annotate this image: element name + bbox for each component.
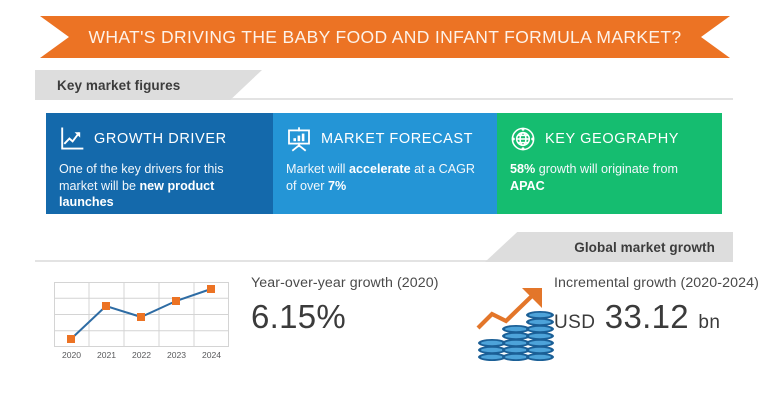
- card-key-geography-highlight-1: 58%: [510, 162, 535, 176]
- yoy-growth-stat: Year-over-year growth (2020) 6.15%: [251, 274, 461, 336]
- incremental-growth-amount: 33.12: [605, 298, 689, 335]
- card-market-forecast-text-1: Market will: [286, 162, 349, 176]
- global-market-growth-tab-label: Global market growth: [574, 240, 715, 255]
- card-growth-driver-title: GROWTH DRIVER: [94, 131, 227, 147]
- card-market-forecast-highlight-1: accelerate: [349, 162, 411, 176]
- card-growth-driver: GROWTH DRIVER One of the key drivers for…: [46, 113, 273, 214]
- card-key-geography-title: KEY GEOGRAPHY: [545, 131, 679, 147]
- key-market-figures-tab: Key market figures: [35, 70, 262, 100]
- chart-x-axis-labels: 2020 2021 2022 2023 2024: [54, 350, 229, 360]
- coin-stack-large: [526, 311, 554, 361]
- card-market-forecast-body: Market will accelerate at a CAGR of over…: [286, 161, 483, 194]
- title-banner: WHAT'S DRIVING THE BABY FOOD AND INFANT …: [40, 16, 730, 58]
- card-market-forecast: MARKET FORECAST Market will accelerate a…: [273, 113, 497, 214]
- incremental-growth-caption: Incremental growth (2020-2024): [554, 274, 768, 292]
- incremental-growth-currency: USD: [554, 312, 595, 333]
- banner-title-text: WHAT'S DRIVING THE BABY FOOD AND INFANT …: [40, 16, 730, 58]
- key-market-figures-tab-label: Key market figures: [57, 78, 180, 93]
- coin-stack-small: [478, 339, 506, 361]
- infographic-page: WHAT'S DRIVING THE BABY FOOD AND INFANT …: [0, 0, 768, 401]
- card-key-geography: KEY GEOGRAPHY 58% growth will originate …: [497, 113, 722, 214]
- chart-x-label-2024: 2024: [194, 350, 229, 360]
- incremental-growth-unit: bn: [698, 312, 720, 333]
- presentation-bar-chart-icon: [286, 126, 312, 152]
- yoy-growth-line-chart: 2020 2021 2022 2023 2024: [54, 282, 229, 364]
- chart-x-label-2020: 2020: [54, 350, 89, 360]
- global-market-growth-tab: Global market growth: [485, 232, 733, 262]
- chart-plot-area: [54, 282, 229, 347]
- coin-stacks-arrow-icon: [476, 280, 556, 362]
- bottom-stats: 2020 2021 2022 2023 2024 Year-over-year …: [36, 272, 736, 382]
- global-market-growth-tab-row: Global market growth: [35, 232, 733, 262]
- card-market-forecast-title: MARKET FORECAST: [321, 131, 473, 147]
- chart-x-label-2022: 2022: [124, 350, 159, 360]
- key-market-figures-tab-row: Key market figures: [35, 70, 733, 100]
- card-key-geography-header: KEY GEOGRAPHY: [510, 124, 708, 154]
- card-key-geography-highlight-2: APAC: [510, 179, 545, 193]
- yoy-growth-value: 6.15%: [251, 298, 461, 336]
- card-key-geography-body: 58% growth will originate from APAC: [510, 161, 708, 194]
- card-market-forecast-header: MARKET FORECAST: [286, 124, 483, 154]
- key-figure-cards: GROWTH DRIVER One of the key drivers for…: [46, 113, 722, 214]
- yoy-growth-caption: Year-over-year growth (2020): [251, 274, 461, 292]
- chart-x-label-2023: 2023: [159, 350, 194, 360]
- card-market-forecast-highlight-2: 7%: [328, 179, 346, 193]
- card-growth-driver-header: GROWTH DRIVER: [59, 124, 259, 154]
- globe-target-icon: [510, 126, 536, 152]
- incremental-growth-stat: Incremental growth (2020-2024) USD 33.12…: [554, 274, 768, 342]
- incremental-growth-value-row: USD 33.12 bn: [554, 298, 768, 342]
- coin-stack-medium: [502, 325, 530, 361]
- chart-x-label-2021: 2021: [89, 350, 124, 360]
- card-growth-driver-body: One of the key drivers for this market w…: [59, 161, 259, 211]
- card-key-geography-text: growth will originate from: [535, 162, 678, 176]
- line-chart-growth-icon: [59, 126, 85, 152]
